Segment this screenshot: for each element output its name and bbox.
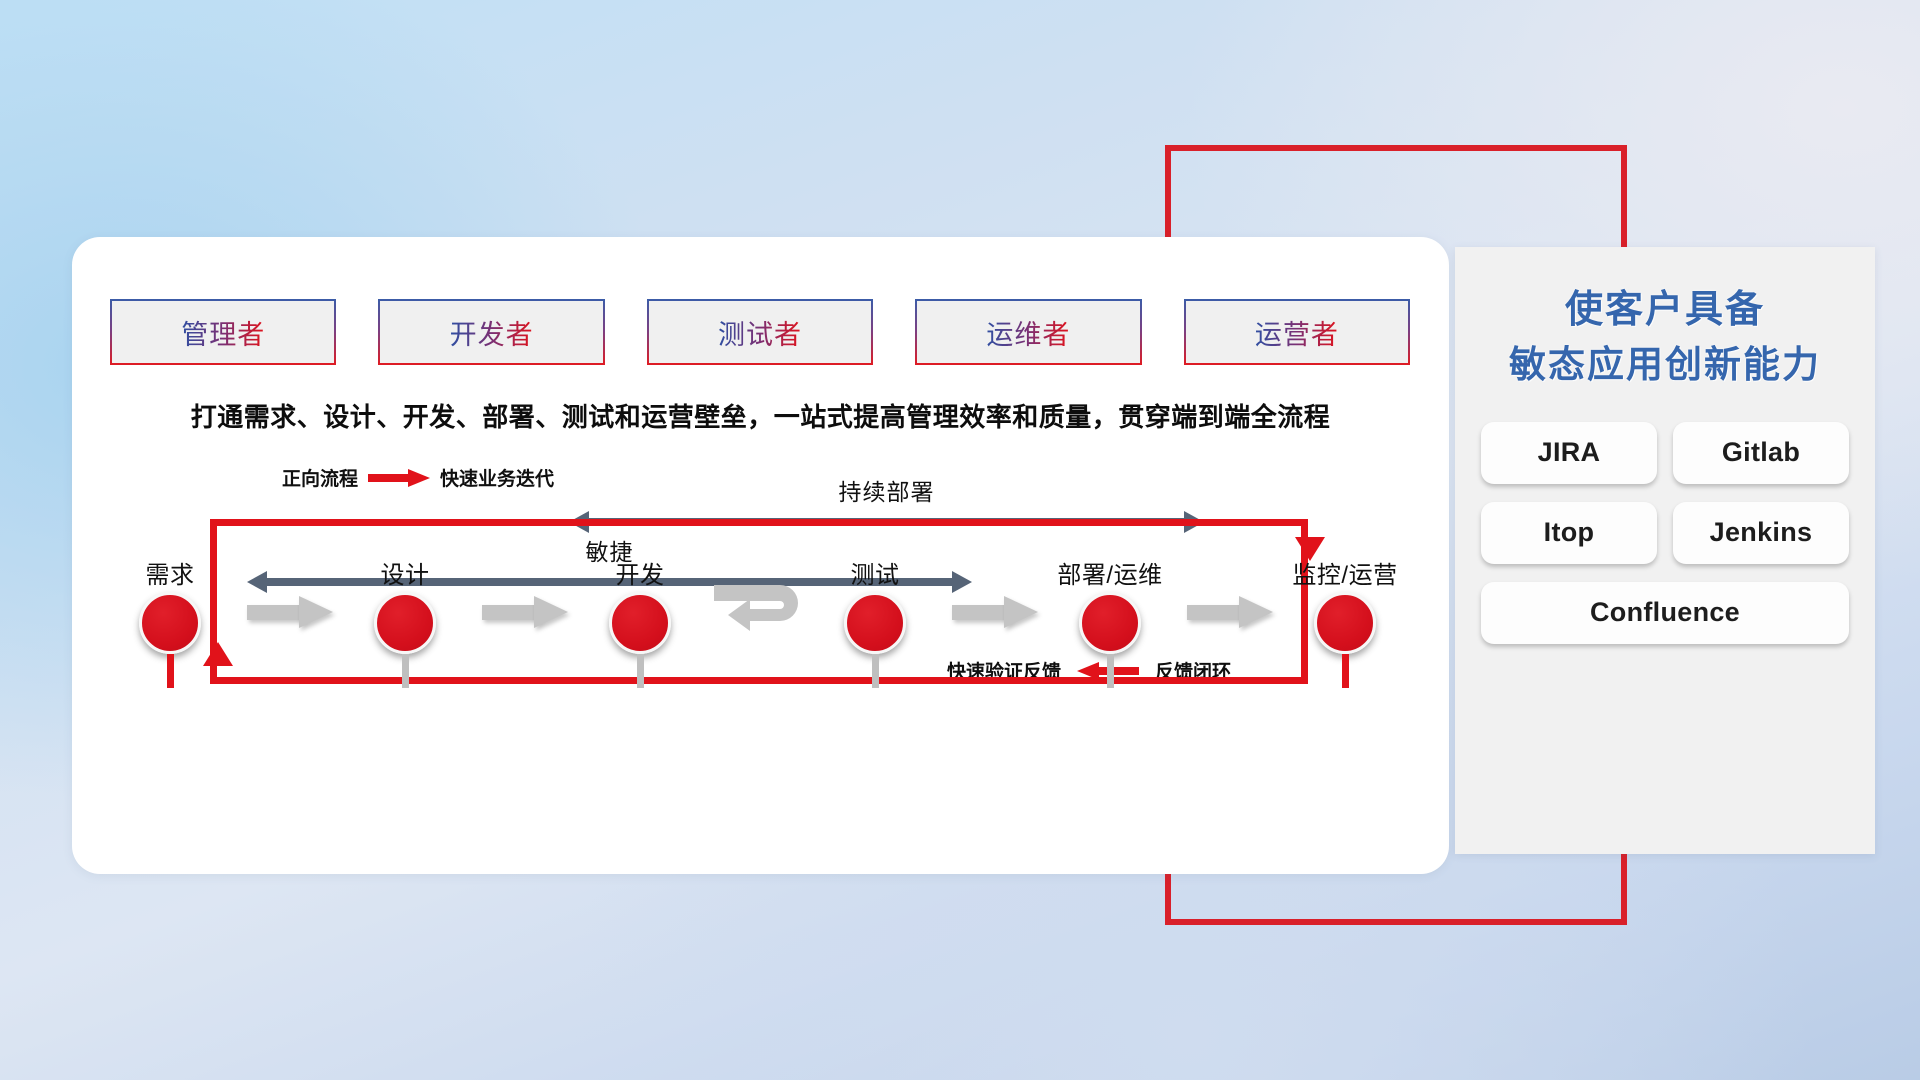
tool-chip-list: JIRA Gitlab Itop Jenkins Confluence (1455, 392, 1875, 644)
panel-title: 使客户具备 敏态应用创新能力 (1455, 247, 1875, 392)
stage-node-design[interactable]: 设计 (345, 555, 465, 688)
stage-label: 设计 (345, 555, 465, 590)
stage-label: 需求 (110, 555, 230, 590)
legend-forward-flow: 正向流程 快速业务迭代 (282, 464, 554, 491)
stage-label: 开发 (580, 555, 700, 590)
role-label: 开发者 (450, 313, 534, 352)
role-label: 运营者 (1255, 313, 1339, 352)
role-label: 测试者 (718, 313, 802, 352)
devops-flow-card: 管理者 开发者 测试者 运维者 运营者 打通需求、设计、开发、部署、测试和运营壁… (72, 237, 1449, 874)
role-label: 运维者 (986, 313, 1070, 352)
capability-panel: 使客户具备 敏态应用创新能力 JIRA Gitlab Itop Jenkins … (1455, 247, 1875, 854)
card-description: 打通需求、设计、开发、部署、测试和运营壁垒，一站式提高管理效率和质量，贯穿端到端… (72, 397, 1449, 434)
stage-stem (1342, 654, 1349, 688)
stage-stem (1107, 654, 1114, 688)
tool-chip-jenkins[interactable]: Jenkins (1673, 502, 1849, 564)
panel-title-line-2: 敏态应用创新能力 (1455, 338, 1875, 392)
role-label: 管理者 (181, 313, 265, 352)
panel-title-line-1: 使客户具备 (1455, 283, 1875, 338)
arrow-right-red-icon (368, 469, 430, 487)
tool-chip-confluence[interactable]: Confluence (1481, 582, 1849, 644)
legend-forward-right-label: 快速业务迭代 (440, 464, 554, 491)
stage-stem (402, 654, 409, 688)
slide-canvas: 管理者 开发者 测试者 运维者 运营者 打通需求、设计、开发、部署、测试和运营壁… (0, 0, 1920, 1080)
stage-node-development[interactable]: 开发 (580, 555, 700, 688)
role-chip-tester[interactable]: 测试者 (647, 299, 873, 365)
role-chip-manager[interactable]: 管理者 (110, 299, 336, 365)
stage-node-deploy-ops[interactable]: 部署/运维 (1050, 555, 1170, 688)
stage-label: 部署/运维 (1050, 555, 1170, 590)
stage-dot (609, 592, 671, 654)
role-list: 管理者 开发者 测试者 运维者 运营者 (110, 299, 1410, 365)
stage-dot (139, 592, 201, 654)
role-chip-operations[interactable]: 运营者 (1184, 299, 1410, 365)
stage-dot (1314, 592, 1376, 654)
stage-stem (637, 654, 644, 688)
tool-chip-gitlab[interactable]: Gitlab (1673, 422, 1849, 484)
stage-node-test[interactable]: 测试 (815, 555, 935, 688)
block-arrow-right-icon (952, 597, 1038, 627)
u-turn-loop-arrow-icon (710, 577, 820, 649)
stage-stem (872, 654, 879, 688)
block-arrow-right-icon (1187, 597, 1273, 627)
block-arrow-right-icon (482, 597, 568, 627)
stage-dot (1079, 592, 1141, 654)
stage-node-monitor-operations[interactable]: 监控/运营 (1285, 555, 1405, 688)
stage-stem (167, 654, 174, 688)
tool-chip-itop[interactable]: Itop (1481, 502, 1657, 564)
stage-label: 测试 (815, 555, 935, 590)
role-chip-developer[interactable]: 开发者 (378, 299, 604, 365)
span-label: 持续部署 (569, 473, 1204, 507)
block-arrow-right-icon (247, 597, 333, 627)
stage-dot (374, 592, 436, 654)
pipeline-stages: 需求 设计 开发 (110, 555, 1410, 695)
legend-forward-left-label: 正向流程 (282, 464, 358, 491)
tool-chip-jira[interactable]: JIRA (1481, 422, 1657, 484)
stage-dot (844, 592, 906, 654)
stage-label: 监控/运营 (1285, 555, 1405, 590)
stage-node-requirement[interactable]: 需求 (110, 555, 230, 688)
role-chip-ops[interactable]: 运维者 (915, 299, 1141, 365)
